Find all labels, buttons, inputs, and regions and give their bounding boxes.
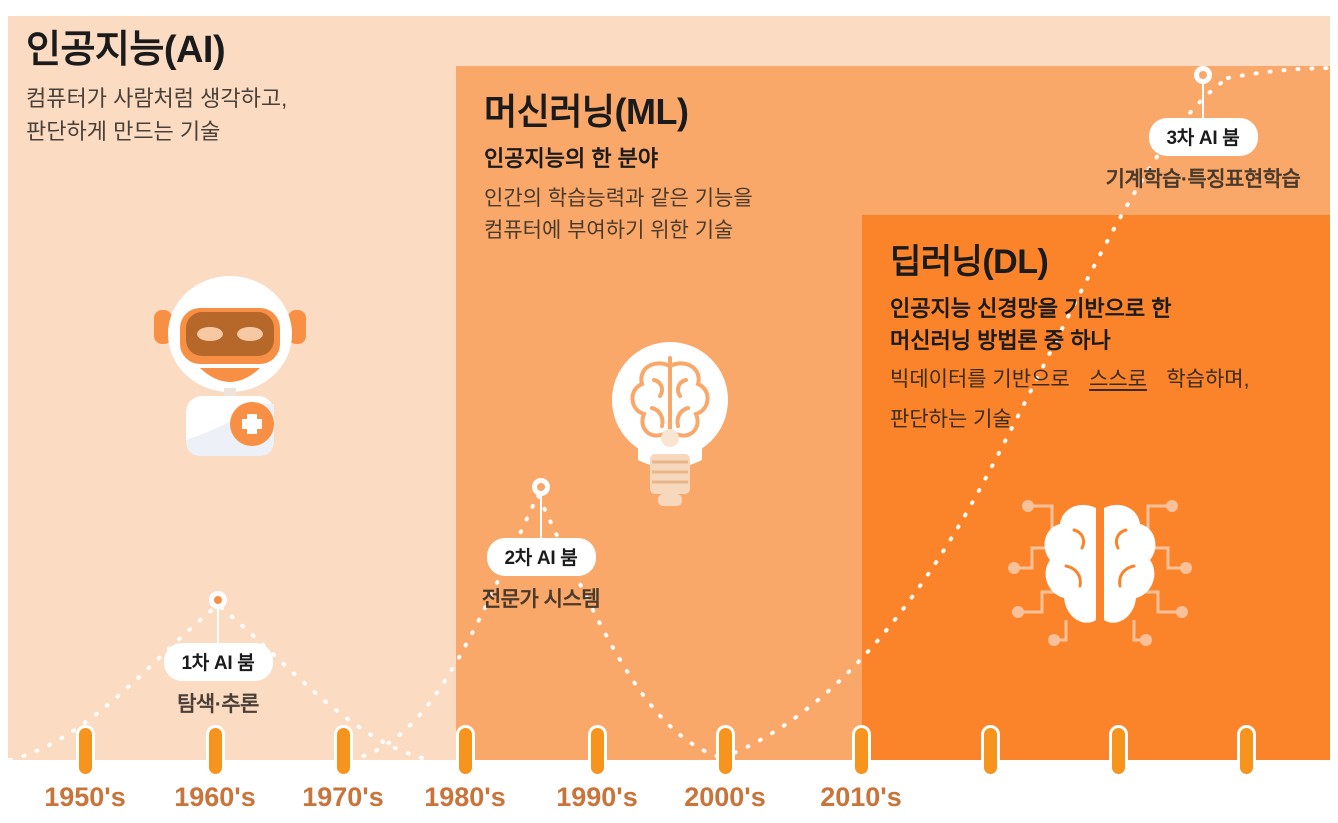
ml-text-block: 머신러닝(ML) 인공지능의 한 분야 인간의 학습능력과 같은 기능을 컴퓨터… [484, 92, 753, 246]
timeline-tick [1112, 728, 1125, 774]
timeline-tick [984, 728, 997, 774]
timeline-tick-label: 2010's [820, 782, 902, 813]
ml-desc-line-2: 컴퓨터에 부여하기 위한 기술 [484, 215, 753, 247]
ml-subtitle: 인공지능의 한 분야 [484, 144, 753, 174]
boom-caption: 기계학습·특징표현학습 [1075, 163, 1331, 193]
infographic-canvas: 인공지능(AI) 컴퓨터가 사람처럼 생각하고, 판단하게 만드는 기술 머신러… [0, 0, 1338, 823]
ai-title: 인공지능(AI) [26, 30, 287, 72]
ml-title: 머신러닝(ML) [484, 92, 753, 132]
boom-pill-label: 2차 AI 붐 [487, 538, 596, 576]
boom-dot-icon [532, 478, 550, 496]
timeline-tick [79, 728, 92, 774]
boom-pill-label: 3차 AI 붐 [1149, 118, 1258, 156]
timeline-tick-label: 1950's [44, 782, 126, 813]
dl-desc-part-a: 빅데이터를 기반으로ㅤ [890, 368, 1089, 391]
boom-stem [540, 496, 542, 538]
boom-dot-icon [1194, 66, 1212, 84]
boom-stem [1202, 84, 1204, 118]
timeline-tick [855, 728, 868, 774]
ml-desc-line-1: 인간의 학습능력과 같은 기능을 [484, 183, 753, 215]
timeline-tick-label: 1990's [556, 782, 638, 813]
timeline-tick [337, 728, 350, 774]
boom-dot-icon [209, 591, 227, 609]
robot-icon [152, 272, 308, 463]
ai-desc-line-2: 판단하게 만드는 기술 [26, 115, 287, 148]
dl-desc-line-1: 빅데이터를 기반으로ㅤ스스로ㅤ학습하며, [890, 363, 1249, 397]
timeline-tick-label: 1960's [174, 782, 256, 813]
timeline-tick [209, 728, 222, 774]
dl-desc-emphasis: 스스로 [1089, 368, 1147, 391]
timeline-tick-label: 1970's [302, 782, 384, 813]
timeline-tick-label: 1980's [424, 782, 506, 813]
dl-subtitle-line-1: 인공지능 신경망을 기반으로 한 [890, 293, 1249, 325]
boom-caption: 탐색·추론 [123, 688, 313, 718]
dl-desc-line-2: 판단하는 기술 [890, 403, 1249, 437]
dl-title: 딥러닝(DL) [890, 244, 1249, 281]
brain-lightbulb-icon [606, 336, 734, 521]
boom-pill-label: 1차 AI 붐 [164, 643, 273, 681]
timeline-axis: 1950's1960's1970's1980's1990's2000's2010… [0, 728, 1338, 823]
boom-caption: 전문가 시스템 [443, 583, 639, 613]
dl-text-block: 딥러닝(DL) 인공지능 신경망을 기반으로 한 머신러닝 방법론 중 하나 빅… [890, 244, 1249, 437]
timeline-tick [591, 728, 604, 774]
timeline-tick-label: 2000's [684, 782, 766, 813]
timeline-tick [1240, 728, 1253, 774]
circuit-brain-icon [1008, 486, 1192, 655]
boom-marker-third: 3차 AI 붐 기계학습·특징표현학습 [1075, 66, 1331, 193]
boom-marker-first: 1차 AI 붐 탐색·추론 [123, 591, 313, 718]
ai-desc-line-1: 컴퓨터가 사람처럼 생각하고, [26, 82, 287, 115]
ai-text-block: 인공지능(AI) 컴퓨터가 사람처럼 생각하고, 판단하게 만드는 기술 [26, 30, 287, 148]
timeline-tick [719, 728, 732, 774]
boom-stem [217, 609, 219, 643]
dl-subtitle-line-2: 머신러닝 방법론 중 하나 [890, 325, 1249, 357]
timeline-tick [459, 728, 472, 774]
dl-desc-part-b: ㅤ학습하며, [1147, 368, 1249, 391]
